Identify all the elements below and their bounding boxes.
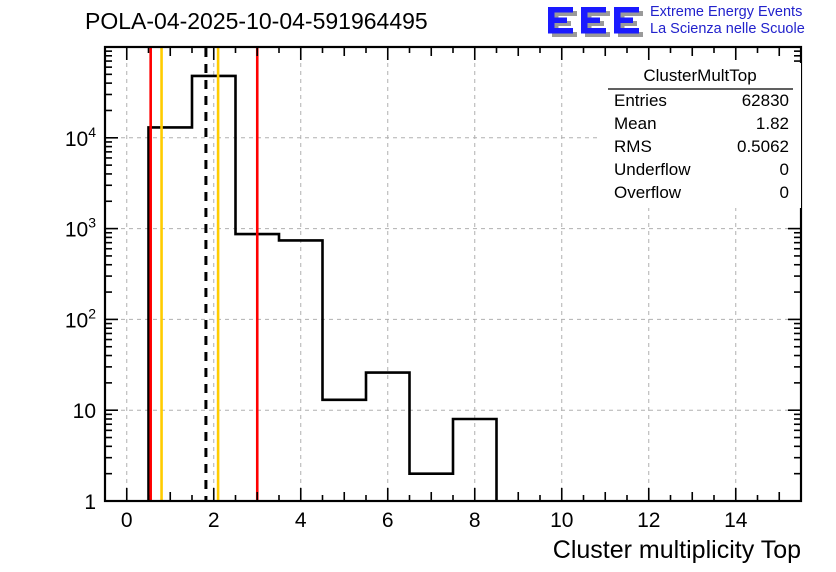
x-axis-title: Cluster multiplicity Top [553,536,801,564]
stats-box-title: ClusterMultTop [643,66,756,85]
stats-row-value: 62830 [742,91,789,110]
eee-logo-mark [548,7,639,34]
x-tick-label: 8 [469,509,481,532]
stats-box[interactable]: ClusterMultTop Entries62830Mean1.82RMS0.… [600,63,801,208]
stats-row-value: 0 [780,160,789,179]
stats-row-value: 1.82 [756,114,789,133]
x-tick-label: 14 [724,509,748,532]
stats-row-label: Underflow [614,160,691,179]
x-tick-label: 6 [382,509,394,532]
x-tick-label: 2 [208,509,220,532]
root-canvas: POLA-04-2025-10-04-591964495 [0,0,836,572]
stats-row-value: 0.5062 [737,137,789,156]
histogram-canvas: POLA-04-2025-10-04-591964495 [0,0,836,572]
logo-line-1: Extreme Energy Events [650,4,802,20]
y-tick-label: 10 [73,400,96,423]
x-tick-label: 0 [121,509,133,532]
page-title: POLA-04-2025-10-04-591964495 [85,8,428,34]
x-tick-label: 12 [637,509,660,532]
stats-row-label: Overflow [614,183,682,202]
logo-line-2: La Scienza nelle Scuole [650,21,805,37]
x-tick-label: 4 [295,509,307,532]
stats-row-value: 0 [780,183,789,202]
stats-row-label: Mean [614,114,657,133]
eee-logo: Extreme Energy Events La Scienza nelle S… [548,4,805,37]
stats-row-label: Entries [614,91,667,110]
y-tick-label: 1 [84,491,96,514]
stats-row-label: RMS [614,137,652,156]
x-tick-label: 10 [550,509,573,532]
